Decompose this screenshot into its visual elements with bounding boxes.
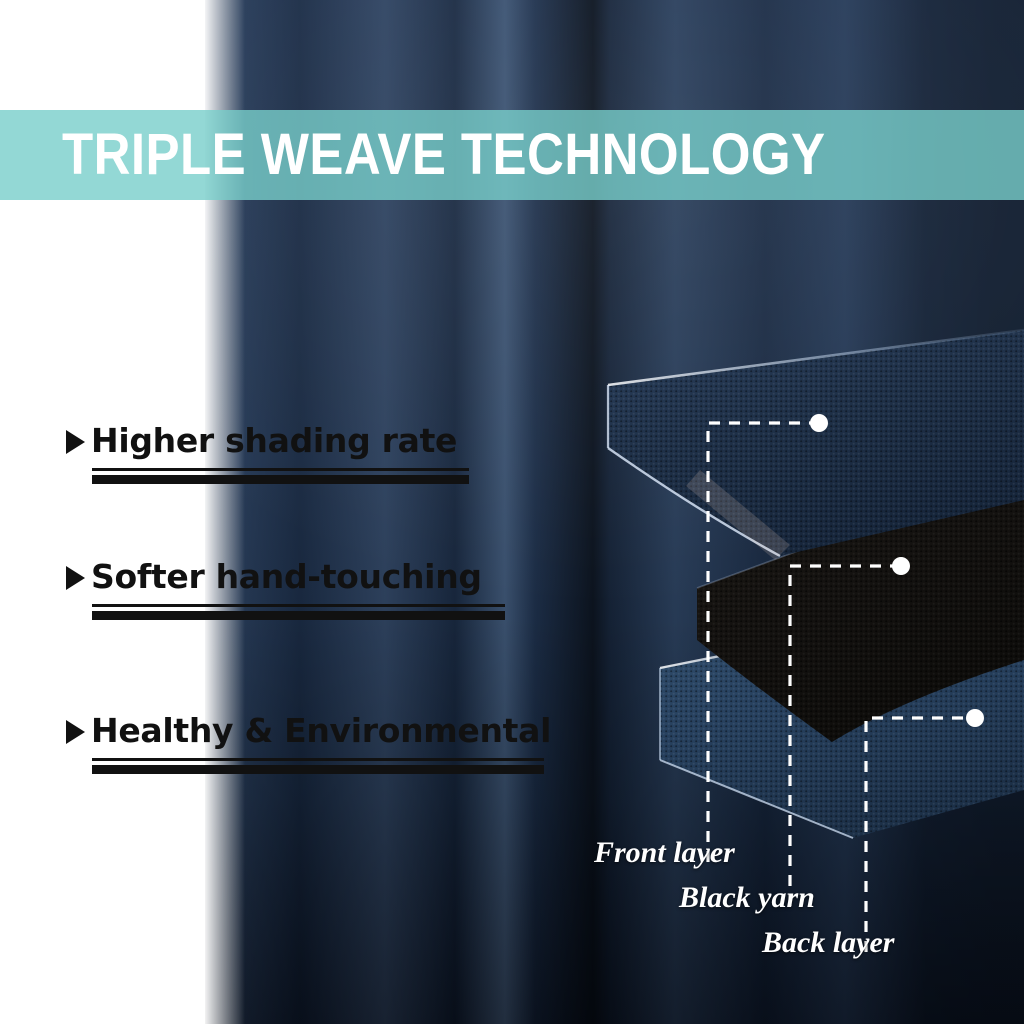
product-feature-image: TRIPLE WEAVE TECHNOLOGY: [0, 0, 1024, 1024]
feature-item-softer-hand-touching: Softer hand-touching: [66, 560, 586, 620]
feature-item-higher-shading-rate: Higher shading rate: [66, 424, 586, 484]
triangle-right-icon: [66, 720, 85, 744]
feature-label: Softer hand-touching: [91, 560, 482, 595]
triangle-right-icon: [66, 430, 85, 454]
triangle-right-icon: [66, 566, 85, 590]
feature-list: Higher shading rate Softer hand-touching…: [0, 0, 1024, 1024]
feature-underline: [92, 468, 469, 484]
feature-label: Healthy & Environmental: [91, 714, 551, 749]
feature-underline: [92, 604, 505, 620]
feature-label: Higher shading rate: [91, 424, 457, 459]
feature-item-healthy-environmental: Healthy & Environmental: [66, 714, 586, 774]
feature-underline: [92, 758, 544, 774]
